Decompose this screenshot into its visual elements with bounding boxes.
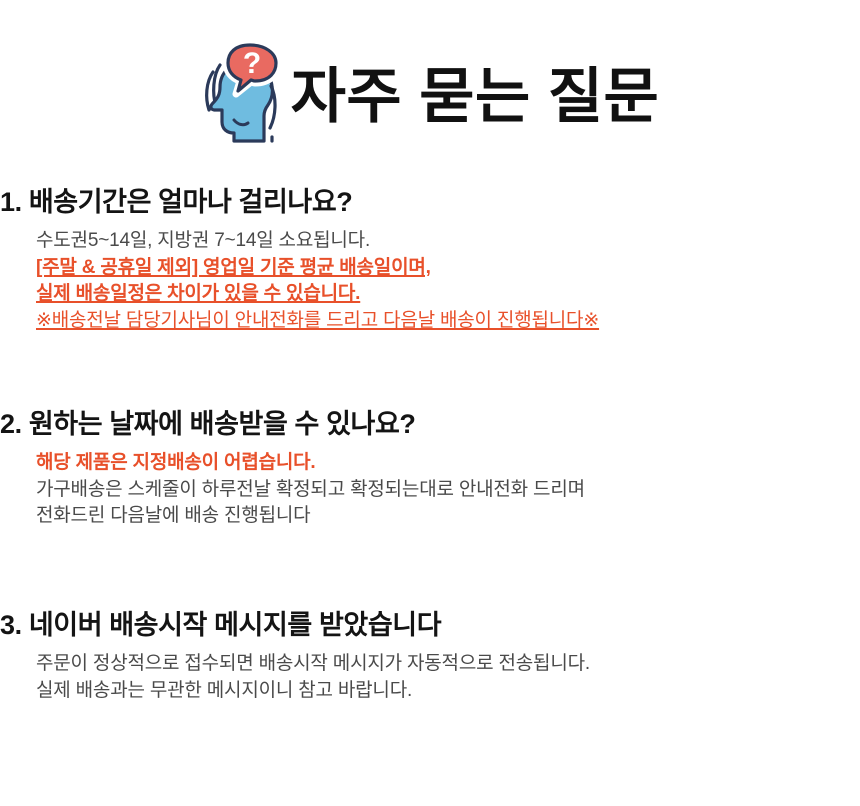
faq-answer: 주문이 정상적으로 접수되면 배송시작 메시지가 자동적으로 전송됩니다. 실제… [0,651,860,705]
faq-question: 2. 원하는 날짜에 배송받을 수 있나요? [0,407,860,442]
faq-answer-line: 실제 배송일정은 차이가 있을 수 있습니다. [36,281,860,308]
faq-answer-line: 전화드린 다음날에 배송 진행됩니다 [36,503,860,530]
faq-answer-line: [주말 & 공휴일 제외] 영업일 기준 평균 배송일이며, [36,255,860,282]
faq-question: 3. 네이버 배송시작 메시지를 받았습니다 [0,608,860,643]
page-title: 자주 묻는 질문 [291,67,660,127]
faq-answer-line: ※배송전날 담당기사님이 안내전화를 드리고 다음날 배송이 진행됩니다※ [36,308,860,335]
faq-answer-line: 실제 배송과는 무관한 메시지이니 참고 바랍니다. [36,678,860,705]
faq-answer: 수도권5~14일, 지방권 7~14일 소요됩니다. [주말 & 공휴일 제외]… [0,228,860,336]
head-with-question-speech-bubble-icon: ? [201,42,279,146]
faq-item: 1. 배송기간은 얼마나 걸리나요? 수도권5~14일, 지방권 7~14일 소… [0,185,860,335]
faq-answer-line: 주문이 정상적으로 접수되면 배송시작 메시지가 자동적으로 전송됩니다. [36,651,860,678]
question-mark-glyph: ? [243,47,261,80]
faq-item: 2. 원하는 날짜에 배송받을 수 있나요? 해당 제품은 지정배송이 어렵습니… [0,407,860,530]
faq-item: 3. 네이버 배송시작 메시지를 받았습니다 주문이 정상적으로 접수되면 배송… [0,608,860,704]
faq-question: 1. 배송기간은 얼마나 걸리나요? [0,185,860,220]
faq-answer-line: 수도권5~14일, 지방권 7~14일 소요됩니다. [36,228,860,255]
page-header: ? 자주 묻는 질문 [0,34,860,154]
faq-answer-line: 해당 제품은 지정배송이 어렵습니다. [36,450,860,477]
faq-answer: 해당 제품은 지정배송이 어렵습니다. 가구배송은 스케줄이 하루전날 확정되고… [0,450,860,531]
faq-answer-line: 가구배송은 스케줄이 하루전날 확정되고 확정되는대로 안내전화 드리며 [36,477,860,504]
